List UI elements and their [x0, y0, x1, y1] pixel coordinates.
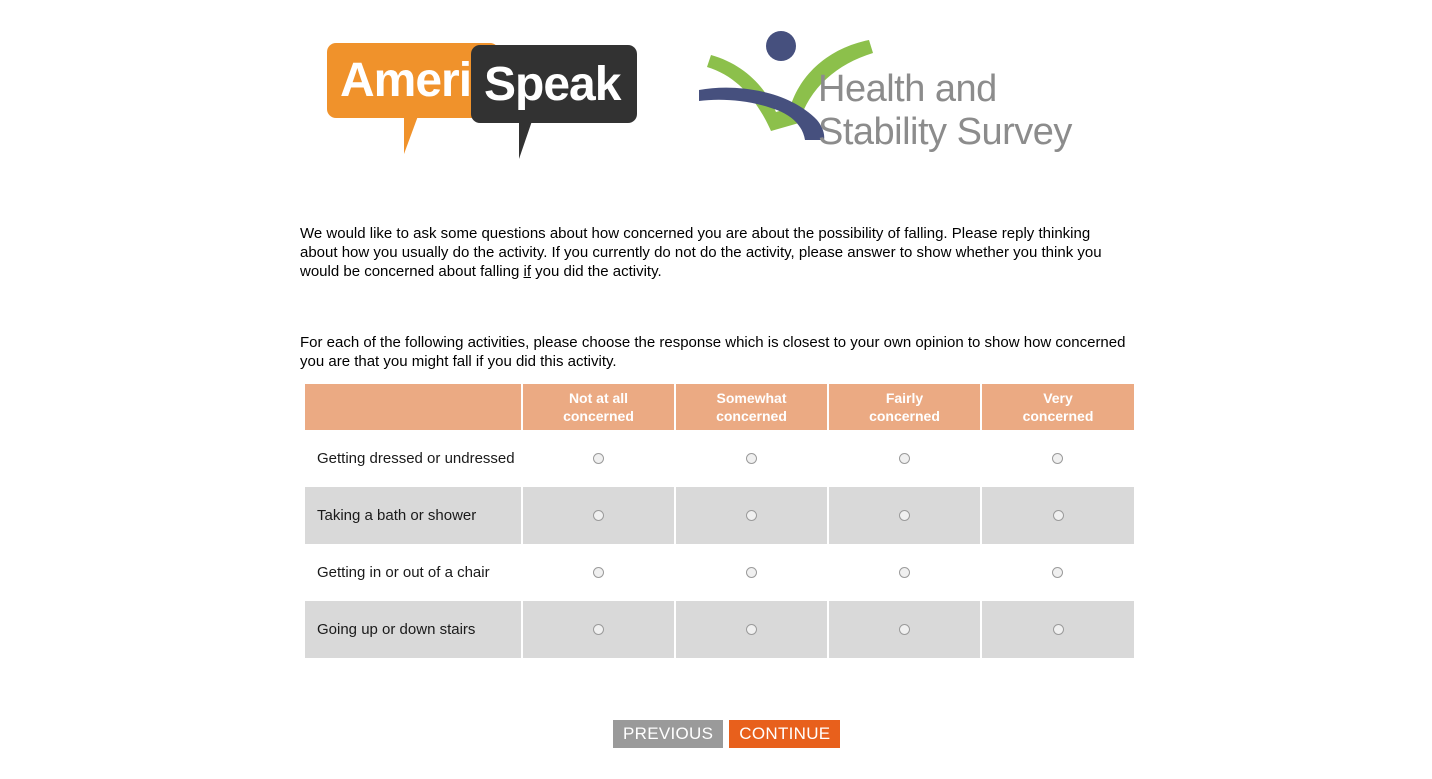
radio-cell[interactable]: [522, 601, 675, 658]
grid-header: Not at all concerned Somewhat concerned …: [305, 384, 1134, 430]
previous-button[interactable]: PREVIOUS: [613, 720, 723, 748]
instruction-paragraph: For each of the following activities, pl…: [300, 333, 1130, 371]
radio-taking-bath-very-concerned[interactable]: [1053, 510, 1064, 521]
radio-going-stairs-very-concerned[interactable]: [1053, 624, 1064, 635]
radio-cell[interactable]: [981, 487, 1134, 544]
table-row: Going up or down stairs: [305, 601, 1134, 658]
amerispeak-word-ameri: Ameri: [340, 57, 471, 105]
grid-header-fairly-concerned: Fairly concerned: [828, 384, 981, 430]
grid-header-very-concerned: Very concerned: [981, 384, 1134, 430]
radio-taking-bath-somewhat-concerned[interactable]: [746, 510, 757, 521]
radio-cell[interactable]: [828, 544, 981, 601]
row-label-taking-bath: Taking a bath or shower: [305, 487, 522, 544]
radio-getting-dressed-somewhat-concerned[interactable]: [746, 453, 757, 464]
radio-getting-dressed-very-concerned[interactable]: [1052, 453, 1063, 464]
radio-getting-in-chair-somewhat-concerned[interactable]: [746, 567, 757, 578]
grid-body: Getting dressed or undressed Taking a ba…: [305, 430, 1134, 658]
radio-cell[interactable]: [981, 601, 1134, 658]
intro-paragraph: We would like to ask some questions abou…: [300, 224, 1130, 281]
radio-cell[interactable]: [828, 430, 981, 487]
header-line-1: Very: [982, 389, 1134, 407]
row-label-getting-dressed: Getting dressed or undressed: [305, 430, 522, 487]
radio-going-stairs-fairly-concerned[interactable]: [899, 624, 910, 635]
radio-cell[interactable]: [828, 487, 981, 544]
grid-header-somewhat-concerned: Somewhat concerned: [675, 384, 828, 430]
header-line-1: Fairly: [829, 389, 980, 407]
logo-band: Ameri Speak Health and Stability Survey: [0, 0, 1432, 175]
falls-concern-grid: Not at all concerned Somewhat concerned …: [305, 384, 1134, 658]
header-line-2: concerned: [829, 407, 980, 425]
intro-text-emphasis: if: [524, 263, 532, 280]
intro-text-part-1: We would like to ask some questions abou…: [300, 225, 1102, 280]
table-row: Taking a bath or shower: [305, 487, 1134, 544]
grid-header-row: Not at all concerned Somewhat concerned …: [305, 384, 1134, 430]
radio-getting-dressed-not-at-all-concerned[interactable]: [593, 453, 604, 464]
header-line-1: Somewhat: [676, 389, 827, 407]
radio-cell[interactable]: [675, 601, 828, 658]
radio-cell[interactable]: [981, 430, 1134, 487]
table-row: Getting dressed or undressed: [305, 430, 1134, 487]
radio-getting-dressed-fairly-concerned[interactable]: [899, 453, 910, 464]
radio-going-stairs-somewhat-concerned[interactable]: [746, 624, 757, 635]
survey-logo-text: Health and Stability Survey: [818, 68, 1072, 154]
grid-header-not-at-all-concerned: Not at all concerned: [522, 384, 675, 430]
survey-logo-line-2: Stability Survey: [818, 111, 1072, 154]
radio-cell[interactable]: [828, 601, 981, 658]
continue-button[interactable]: CONTINUE: [729, 720, 840, 748]
radio-cell[interactable]: [675, 430, 828, 487]
header-line-2: concerned: [676, 407, 827, 425]
radio-cell[interactable]: [981, 544, 1134, 601]
navigation-buttons: PREVIOUS CONTINUE: [613, 720, 840, 748]
radio-getting-in-chair-fairly-concerned[interactable]: [899, 567, 910, 578]
grid-header-activity: [305, 384, 522, 430]
table-row: Getting in or out of a chair: [305, 544, 1134, 601]
amerispeak-word-speak: Speak: [484, 61, 620, 109]
radio-cell[interactable]: [675, 544, 828, 601]
radio-cell[interactable]: [522, 487, 675, 544]
radio-cell[interactable]: [675, 487, 828, 544]
row-label-getting-in-chair: Getting in or out of a chair: [305, 544, 522, 601]
radio-going-stairs-not-at-all-concerned[interactable]: [593, 624, 604, 635]
speech-bubble-tail-dark-icon: [519, 121, 553, 159]
header-line-2: concerned: [982, 407, 1134, 425]
amerispeak-logo: Ameri Speak: [327, 43, 635, 148]
radio-getting-in-chair-not-at-all-concerned[interactable]: [593, 567, 604, 578]
header-line-1: Not at all: [523, 389, 674, 407]
header-line-2: concerned: [523, 407, 674, 425]
radio-taking-bath-fairly-concerned[interactable]: [899, 510, 910, 521]
radio-getting-in-chair-very-concerned[interactable]: [1052, 567, 1063, 578]
radio-cell[interactable]: [522, 544, 675, 601]
health-and-stability-survey-logo: Health and Stability Survey: [697, 28, 1097, 148]
intro-text-part-2: you did the activity.: [531, 263, 662, 280]
radio-taking-bath-not-at-all-concerned[interactable]: [593, 510, 604, 521]
survey-logo-line-1: Health and: [818, 68, 1072, 111]
row-label-going-stairs: Going up or down stairs: [305, 601, 522, 658]
radio-cell[interactable]: [522, 430, 675, 487]
speech-bubble-tail-orange-icon: [404, 116, 440, 154]
